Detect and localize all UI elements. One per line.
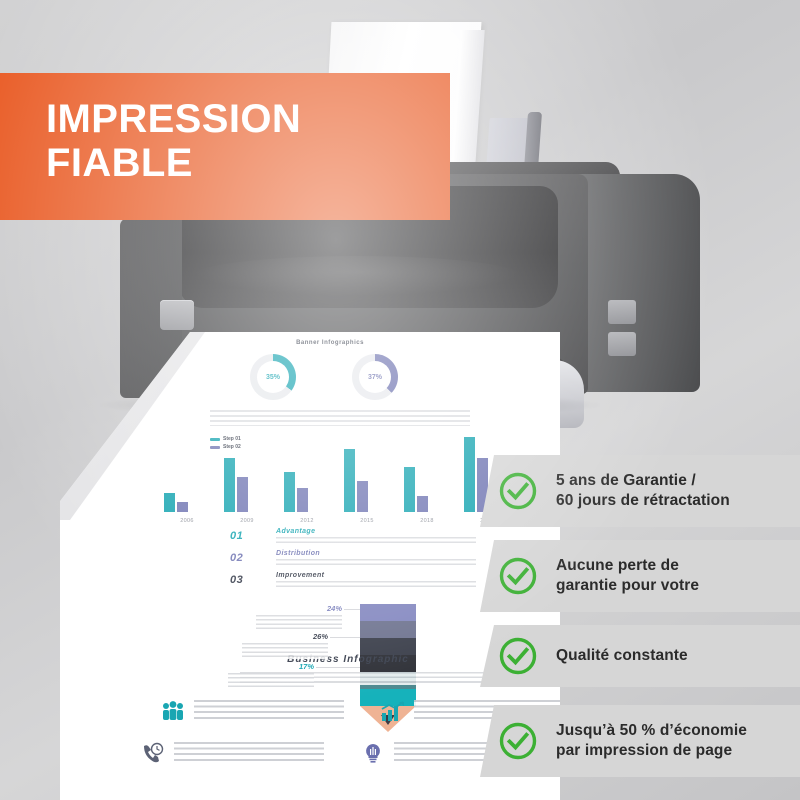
feature-panel-2-text: Aucune perte de garantie pour votre [556, 556, 699, 597]
feature-panel-3[interactable]: Qualité constante [480, 625, 800, 687]
feature-panel-3-text: Qualité constante [556, 646, 688, 666]
promo-image: Banner Infographics 35% 37% Step 01 Step… [0, 0, 800, 800]
feature-panel-4[interactable]: Jusqu’à 50 % d’économie par impression d… [480, 705, 800, 777]
feature-panel-2[interactable]: Aucune perte de garantie pour votre [480, 540, 800, 612]
check-circle-icon [498, 556, 538, 596]
check-circle-icon [498, 636, 538, 676]
headline-banner: IMPRESSION FIABLE [0, 73, 450, 220]
feature-panel-1[interactable]: 5 ans de Garantie / 60 jours de rétracta… [480, 455, 800, 527]
feature-panel-1-text: 5 ans de Garantie / 60 jours de rétracta… [556, 471, 730, 512]
check-circle-icon [498, 721, 538, 761]
check-circle-icon [498, 471, 538, 511]
feature-panel-4-text: Jusqu’à 50 % d’économie par impression d… [556, 721, 747, 762]
page-title: IMPRESSION FIABLE [0, 73, 450, 185]
